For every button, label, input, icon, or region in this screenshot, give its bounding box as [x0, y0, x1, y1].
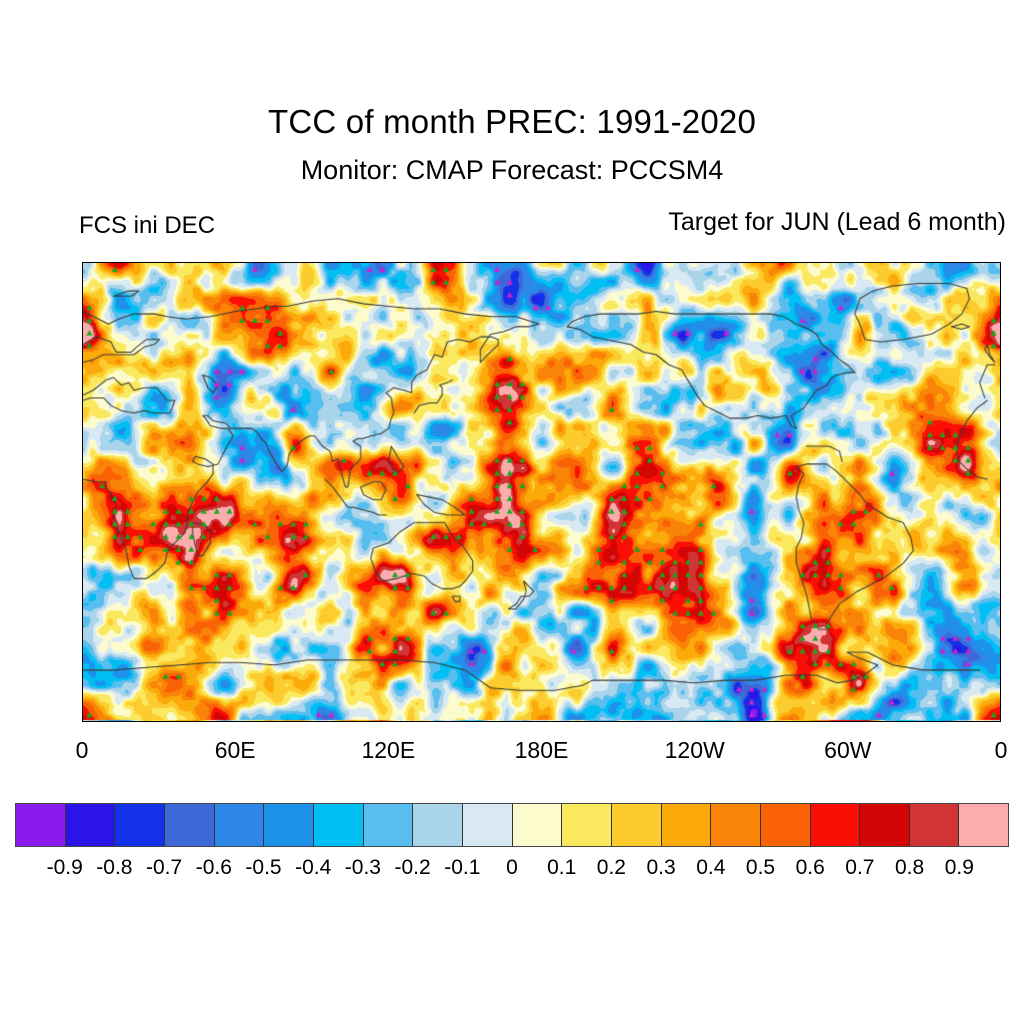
- x-tick: [428, 721, 429, 722]
- x-tick: [160, 721, 161, 722]
- page-title: TCC of month PREC: 1991-2020: [0, 103, 1024, 141]
- colorbar: [15, 803, 1009, 847]
- x-tick: [198, 721, 199, 722]
- y-tick: [82, 493, 83, 494]
- x-tick: [964, 721, 965, 722]
- y-tick: [82, 263, 83, 264]
- x-tick: [121, 721, 122, 722]
- colorbar-cell-5: [264, 804, 314, 846]
- forecast-init-label: FCS ini DEC: [79, 212, 215, 240]
- colorbar-cell-9: [463, 804, 513, 846]
- x-tick: [389, 721, 390, 722]
- colorbar-tick: 0.8: [895, 856, 924, 880]
- forecast-target-label: Target for JUN (Lead 6 month): [668, 208, 1006, 237]
- colorbar-tick: 0: [506, 856, 518, 880]
- x-tick: [696, 721, 697, 722]
- colorbar-tick: -0.2: [395, 856, 431, 880]
- colorbar-cell-8: [413, 804, 463, 846]
- colorbar-cell-11: [562, 804, 612, 846]
- colorbar-cell-3: [165, 804, 215, 846]
- x-axis-label: 60E: [215, 737, 256, 764]
- colorbar-tick: 0.7: [845, 856, 874, 880]
- x-tick: [657, 721, 658, 722]
- colorbar-tick: 0.6: [796, 856, 825, 880]
- colorbar-cell-7: [364, 804, 414, 846]
- colorbar-tick: 0.9: [945, 856, 974, 880]
- x-tick: [581, 721, 582, 722]
- colorbar-tick: -0.6: [196, 856, 232, 880]
- colorbar-cell-14: [711, 804, 761, 846]
- x-tick: [466, 721, 467, 722]
- x-tick: [83, 721, 84, 722]
- y-tick: [82, 570, 83, 571]
- x-tick: [925, 721, 926, 722]
- colorbar-tick: 0.5: [746, 856, 775, 880]
- y-tick: [82, 531, 83, 532]
- colorbar-cell-12: [612, 804, 662, 846]
- colorbar-cell-1: [66, 804, 116, 846]
- y-tick: [82, 646, 83, 647]
- x-tick: [504, 721, 505, 722]
- colorbar-cell-19: [959, 804, 1008, 846]
- colorbar-cell-10: [513, 804, 563, 846]
- figure: TCC of month PREC: 1991-2020 Monitor: CM…: [0, 0, 1024, 1024]
- x-tick: [313, 721, 314, 722]
- colorbar-cell-2: [115, 804, 165, 846]
- x-tick: [619, 721, 620, 722]
- colorbar-tick: -0.1: [444, 856, 480, 880]
- x-tick: [887, 721, 888, 722]
- y-tick: [82, 378, 83, 379]
- colorbar-tick: -0.5: [245, 856, 281, 880]
- colorbar-cell-16: [811, 804, 861, 846]
- x-axis-label: 60W: [824, 737, 871, 764]
- y-tick: [82, 608, 83, 609]
- colorbar-cell-18: [910, 804, 960, 846]
- y-tick: [82, 340, 83, 341]
- x-tick: [772, 721, 773, 722]
- colorbar-tick: 0.1: [547, 856, 576, 880]
- subtitle: Monitor: CMAP Forecast: PCCSM4: [0, 155, 1024, 186]
- x-axis-label: 120E: [361, 737, 415, 764]
- x-tick: [811, 721, 812, 722]
- x-tick: [734, 721, 735, 722]
- colorbar-tick: -0.4: [295, 856, 331, 880]
- colorbar-tick: 0.3: [646, 856, 675, 880]
- x-tick: [543, 721, 544, 722]
- colorbar-cell-0: [16, 804, 66, 846]
- x-tick: [351, 721, 352, 722]
- map-plot-area: [82, 262, 1001, 722]
- y-tick: [82, 685, 83, 686]
- colorbar-cell-4: [215, 804, 265, 846]
- colorbar-tick: -0.8: [96, 856, 132, 880]
- y-tick: [82, 301, 83, 302]
- colorbar-cell-15: [761, 804, 811, 846]
- colorbar-tick: -0.3: [345, 856, 381, 880]
- colorbar-tick: -0.7: [146, 856, 182, 880]
- x-tick: [236, 721, 237, 722]
- correlation-heatmap: [83, 263, 1000, 721]
- colorbar-cell-6: [314, 804, 364, 846]
- x-axis-label: 0: [76, 737, 89, 764]
- x-axis-label: 0: [995, 737, 1008, 764]
- colorbar-tick: -0.9: [47, 856, 83, 880]
- y-tick: [82, 416, 83, 417]
- y-tick: [82, 455, 83, 456]
- colorbar-cell-13: [662, 804, 712, 846]
- x-tick: [849, 721, 850, 722]
- colorbar-tick: 0.4: [696, 856, 725, 880]
- x-axis-label: 120W: [665, 737, 725, 764]
- x-axis-label: 180E: [515, 737, 569, 764]
- colorbar-tick: 0.2: [597, 856, 626, 880]
- x-tick: [274, 721, 275, 722]
- colorbar-cell-17: [860, 804, 910, 846]
